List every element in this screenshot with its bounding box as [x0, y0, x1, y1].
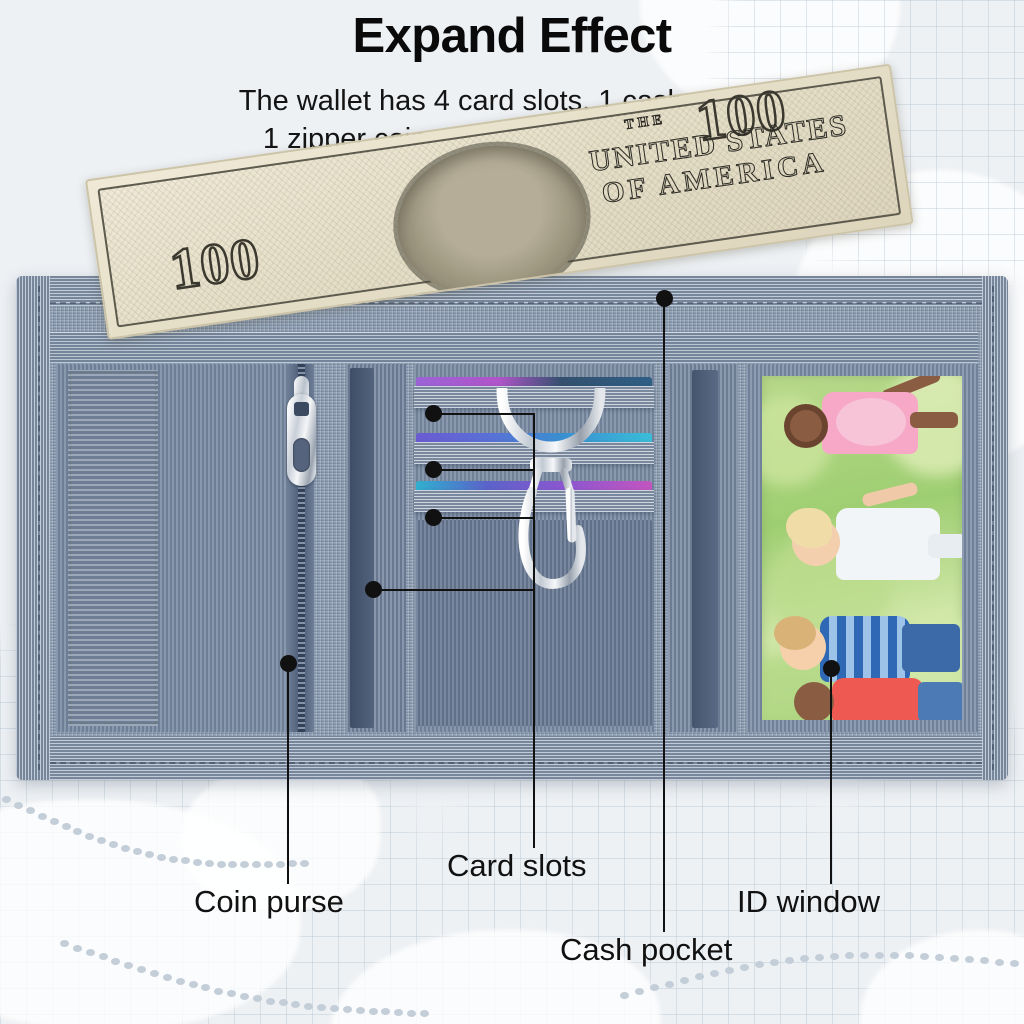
stitch-line: [992, 286, 994, 770]
callout-line-id-window: [830, 668, 832, 884]
narrow-pocket-slot: [692, 370, 718, 728]
wallet-product-image: [16, 276, 1008, 780]
callout-line-coin-purse: [287, 663, 289, 884]
zipper-pull-icon: [285, 376, 318, 488]
callout-label-card-slots: Card slots: [447, 848, 587, 884]
callout-leader-card-slot-1: [432, 413, 534, 415]
stitch-line: [38, 286, 40, 770]
callout-dot-cash-pocket: [656, 290, 673, 307]
wallet-left-binding: [16, 276, 50, 780]
callout-dot-id-window: [823, 660, 840, 677]
callout-line-card-slots: [533, 413, 535, 848]
id-window-photo: [762, 376, 962, 720]
key-clip-carabiner-icon: [486, 388, 616, 598]
photo-child: [780, 382, 962, 468]
callout-line-cash-pocket: [663, 298, 665, 932]
callout-dot-coin-purse: [280, 655, 297, 672]
wallet-shell: [16, 276, 1008, 780]
page-title: Expand Effect: [0, 8, 1024, 64]
callout-leader-card-slot-2: [432, 469, 534, 471]
wallet-right-binding: [982, 276, 1008, 780]
photo-child: [784, 494, 962, 594]
callout-label-id-window: ID window: [737, 884, 880, 920]
callout-label-cash-pocket: Cash pocket: [560, 932, 732, 968]
cash-pocket-flap: [46, 332, 978, 363]
inner-slot: [350, 368, 374, 728]
callout-leader-card-slot-3: [432, 517, 534, 519]
callout-dot-card-slot-4: [365, 581, 382, 598]
bill-denomination: 100: [166, 224, 265, 303]
velcro-patch: [68, 370, 158, 726]
wallet-bottom-binding: [16, 736, 1008, 780]
callout-label-coin-purse: Coin purse: [194, 884, 344, 920]
callout-leader-card-slot-4: [372, 589, 534, 591]
callout-dot-card-slot-1: [425, 405, 442, 422]
callout-dot-card-slot-2: [425, 461, 442, 478]
infographic-canvas: Expand Effect The wallet has 4 card slot…: [0, 0, 1024, 1024]
callout-dot-card-slot-3: [425, 509, 442, 526]
photo-child: [792, 676, 962, 720]
stitch-line: [50, 762, 982, 764]
